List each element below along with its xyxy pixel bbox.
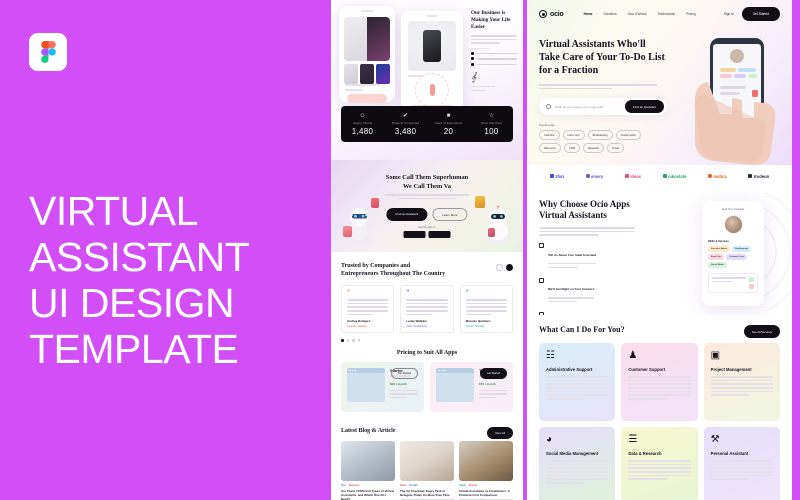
nav-link-home[interactable]: Home <box>584 12 593 16</box>
mockup-screen-a: Our Business is Making Your Life Easier … <box>331 0 523 500</box>
client-logo: Kodeun <box>748 174 769 179</box>
testimonial-card: “ Marcelo Quintero Owner, Tidewell <box>460 285 513 333</box>
superhuman-heading: Some Call Them Superhuman We Call Them V… <box>372 174 482 191</box>
signature-icon: 𝄞 <box>471 72 517 83</box>
hero-lead <box>539 84 657 89</box>
skill-chip[interactable]: Social Media <box>708 262 727 268</box>
mockup-screen-b: ocio Home Solutions How It Works Testimo… <box>527 0 792 500</box>
why-lead <box>539 227 635 236</box>
blog-tag: Tips <box>341 484 346 487</box>
app-phone-mockup: Find Your Assistant Skills & Services Ex… <box>702 201 764 306</box>
service-title: Data & Research <box>628 451 690 456</box>
business-paragraph <box>471 35 517 44</box>
service-title: Project Management <box>711 367 773 372</box>
service-card[interactable]: ⚒ Personal Assistant <box>704 427 780 500</box>
client-logo: nikostate <box>663 174 687 179</box>
checkbox-icon <box>539 243 544 248</box>
pricing-card-team: Team $79 / month Get Started <box>430 362 513 412</box>
stat-value: 20 <box>427 127 470 136</box>
navbar: ocio Home Solutions How It Works Testimo… <box>527 0 792 28</box>
phone-notch <box>361 10 373 12</box>
checkbox-icon <box>539 278 544 283</box>
service-title: Administrative Support <box>546 367 608 372</box>
award-icon: ☆ <box>470 112 513 120</box>
section-pricing: Pricing to Suit All Apps Starter $29 / m… <box>331 344 523 420</box>
service-title: Personal Assistant <box>711 451 773 456</box>
blog-tag: Guide <box>459 484 466 487</box>
blog-title: Are There 4 Different Types of Virtual A… <box>341 489 395 500</box>
skill-chip[interactable]: Customer Care <box>726 254 747 260</box>
section-testimonials: Trusted by Companies and Entrepreneurs T… <box>331 252 523 344</box>
blog-thumbnail <box>341 441 395 481</box>
business-copy: Our Business is Making Your Life Easier … <box>471 10 517 93</box>
avatar <box>724 215 743 234</box>
client-logo: zfori <box>550 174 564 179</box>
section-superhuman: Some Call Them Superhuman We Call Them V… <box>331 160 523 252</box>
stat-item: ☆ Team Members 100 <box>470 112 513 136</box>
plan-preview-image <box>436 368 474 402</box>
avatar-thumb <box>488 228 495 237</box>
robot-dog-illustration <box>343 204 377 246</box>
check-circle-icon: ✔ <box>384 112 427 120</box>
store-caption: Get the app on <box>404 226 451 229</box>
nav-link-testimonials[interactable]: Testimonials <box>657 12 675 16</box>
person-icon: ⚒ <box>711 434 773 445</box>
client-logo-label: Kodeun <box>754 174 770 179</box>
services-grid: ☷ Administrative Support ♟ Customer Supp… <box>539 343 780 500</box>
client-logo-label: matica <box>713 174 726 179</box>
section-blog: Latest Blog & Article View All TipsBusin… <box>331 420 523 500</box>
document-icon: ☷ <box>546 350 608 361</box>
why-feature: Tell Us About Your Ideal Assistant <box>539 243 643 270</box>
why-heading: Why Choose Ocio Apps Virtual Assistants <box>539 199 639 221</box>
blog-thumbnail <box>459 441 513 481</box>
why-feature: We'll Get Right on Your Answers <box>539 277 643 304</box>
phone-1-cta[interactable] <box>347 94 387 103</box>
stat-value: 3,480 <box>384 127 427 136</box>
briefcase-icon: ▣ <box>711 350 773 361</box>
chevron-right-icon[interactable] <box>506 264 513 271</box>
brand-name: ocio <box>550 11 564 18</box>
headset-icon: ♟ <box>628 350 690 361</box>
carousel-dot[interactable] <box>352 339 355 342</box>
client-logo: Ideas <box>625 174 641 179</box>
hero-content: Virtual Assistants Who'll Take Care of Y… <box>527 28 679 153</box>
quote-icon: “ <box>347 291 388 296</box>
see-all-services-button[interactable]: See All Services <box>744 325 780 338</box>
stat-label: Projects Completed <box>384 121 427 125</box>
nav-link-solutions[interactable]: Solutions <box>603 12 616 16</box>
plan-price: $79 / month <box>479 382 507 386</box>
pricing-heading: Pricing to Suit All Apps <box>341 350 513 356</box>
testimonial-role: CEO, Northbound <box>406 325 427 328</box>
carousel-dot-active[interactable] <box>341 339 344 342</box>
pricing-card-starter: Starter $29 / month Get Started <box>341 362 424 412</box>
tag-chip[interactable]: Research <box>583 143 604 153</box>
superhuman-heading-line1: Some Call Them Superhuman <box>386 174 468 181</box>
stat-label: Happy Clients <box>341 121 384 125</box>
blog-thumbnail <box>400 441 454 481</box>
page-title: VIRTUAL ASSISTANT UI DESIGN TEMPLATE <box>29 188 309 372</box>
testimonial-card: “ Andrea Rodgers Founder, Brightly <box>341 285 394 333</box>
skill-chip[interactable]: Email Ops <box>708 254 724 260</box>
tag-chip[interactable]: Bookkeeping <box>588 130 613 140</box>
phone-1-sub-line <box>345 89 363 91</box>
testimonial-author: Leslie Watkins <box>406 319 427 323</box>
poster-panel: VIRTUAL ASSISTANT UI DESIGN TEMPLATE <box>0 0 331 500</box>
blog-card[interactable]: TipsBusiness Are There 4 Different Types… <box>341 441 395 500</box>
nav-link-how-it-works[interactable]: How It Works <box>628 12 647 16</box>
stat-label: Team Members <box>470 121 513 125</box>
tag-chip[interactable]: Data entry <box>539 143 561 153</box>
client-logo-strip: zfori emery Ideas nikostate matica Kodeu… <box>527 165 792 187</box>
superhuman-subtext <box>385 194 469 199</box>
store-badges: Get the app on <box>404 226 451 238</box>
stat-item: ✔ Projects Completed 3,480 <box>384 112 427 136</box>
phone-notch <box>426 15 438 17</box>
tag-chip[interactable]: CRM <box>564 143 580 153</box>
popular-tags-caption: Popular tags: <box>539 123 667 127</box>
title-line-4: TEMPLATE <box>29 326 309 372</box>
title-line-1: VIRTUAL <box>29 188 309 234</box>
business-bullet <box>471 63 517 66</box>
learn-more-button[interactable]: Learn More <box>432 208 467 221</box>
blog-tag: Growth <box>409 484 417 487</box>
tag-chip[interactable]: Social media <box>616 130 641 140</box>
briefcase-icon: ■ <box>427 112 470 120</box>
hero-heading: Virtual Assistants Who'll Take Care of Y… <box>539 38 667 77</box>
service-card[interactable]: ◕ Social Media Management <box>539 427 615 500</box>
business-bullet <box>471 52 517 55</box>
get-started-button[interactable]: Get Started <box>742 7 780 21</box>
blog-card[interactable]: NewsGrowth The VA Checklist: Every Task … <box>400 441 454 500</box>
carousel-dot[interactable] <box>347 339 350 342</box>
superhuman-actions: Find an Assistant Learn More <box>386 208 467 221</box>
phone-mockup-1 <box>339 6 395 102</box>
figma-icon <box>29 33 67 71</box>
search-icon <box>546 104 551 109</box>
title-line-3: UI DESIGN <box>29 280 309 326</box>
skill-chip[interactable]: Bookkeeping <box>732 246 751 252</box>
stats-bar: ☺ Happy Clients 1,480 ✔ Projects Complet… <box>341 106 513 142</box>
search-input[interactable]: What do you need a VA to help with? <box>555 105 625 109</box>
find-assistant-button[interactable]: Find an Assistant <box>625 100 664 113</box>
testimonial-role: Owner, Tidewell <box>466 325 484 328</box>
phone-message-box <box>708 273 758 293</box>
blog-title: The VA Checklist: Every Task to Delegate… <box>400 489 454 497</box>
section-hero: ocio Home Solutions How It Works Testimo… <box>527 0 792 165</box>
why-feature-title: We'll Get Right on Your Answers <box>548 287 594 291</box>
send-icon[interactable] <box>749 277 754 282</box>
testimonial-author: Andrea Rodgers <box>347 319 370 323</box>
phone-message-text <box>712 277 746 289</box>
tag-chip[interactable]: Travel <box>607 143 624 153</box>
skill-chip[interactable]: Executive Admin <box>708 246 730 252</box>
plan-preview-image <box>347 368 385 402</box>
testimonial-card: “ Leslie Watkins CEO, Northbound <box>400 285 453 333</box>
signin-link[interactable]: Sign in <box>724 12 734 16</box>
carousel-dot[interactable] <box>358 339 361 342</box>
client-logo: emery <box>586 174 604 179</box>
megaphone-icon: ◕ <box>546 434 608 445</box>
testimonial-author: Marcelo Quintero <box>466 319 491 323</box>
tag-chip[interactable]: Inbox zero <box>563 130 585 140</box>
stat-value: 100 <box>470 127 513 136</box>
stat-value: 1,480 <box>341 127 384 136</box>
ocio-logo-icon <box>539 10 547 18</box>
stat-label: Years of Experience <box>427 121 470 125</box>
section-services: What Can I Do For You? See All Services … <box>527 315 792 500</box>
client-logo-label: emery <box>591 174 603 179</box>
phone-section-label: Skills & Services <box>708 240 758 243</box>
testimonial-card-list: “ Andrea Rodgers Founder, Brightly “ Les… <box>341 285 513 333</box>
nav-link-pricing[interactable]: Pricing <box>686 12 696 16</box>
carousel-dots[interactable] <box>341 339 513 342</box>
tag-chip[interactable]: Calendar <box>539 130 560 140</box>
business-heading: Our Business is Making Your Life Easier <box>471 10 517 31</box>
phone-1-thumbs <box>344 64 390 84</box>
phone-1-gallery <box>344 17 390 61</box>
blog-tag: Business <box>349 484 360 487</box>
google-play-badge[interactable] <box>429 231 451 238</box>
stat-item: ☺ Happy Clients 1,480 <box>341 112 384 136</box>
business-bullet <box>471 57 517 60</box>
blog-card[interactable]: GuideRemote Virtual Assistants vs Freela… <box>459 441 513 500</box>
figma-glyph <box>41 41 56 63</box>
service-card[interactable]: ▣ Project Management <box>704 343 780 421</box>
plan-cta-button[interactable]: Get Started <box>480 368 507 379</box>
skill-chip-list: Executive Admin Bookkeeping Email Ops Cu… <box>708 246 758 268</box>
avatar-thumb <box>475 196 485 208</box>
service-card[interactable]: ♟ Customer Support <box>621 343 697 421</box>
testimonial-role: Founder, Brightly <box>347 325 367 328</box>
why-feature-title: Tell Us About Your Ideal Assistant <box>548 253 596 257</box>
client-logo-label: Ideas <box>630 174 641 179</box>
avatar-thumb <box>343 226 352 237</box>
search-bar[interactable]: What do you need a VA to help with? Find… <box>539 98 667 115</box>
section-business-hero: Our Business is Making Your Life Easier … <box>331 0 523 160</box>
app-store-badge[interactable] <box>404 231 426 238</box>
plan-cta-button[interactable]: Get Started <box>391 368 418 379</box>
nav-links: Home Solutions How It Works Testimonials… <box>584 12 696 16</box>
superhuman-heading-line2: We Call Them Va <box>403 183 451 190</box>
brand-logo[interactable]: ocio <box>539 10 564 18</box>
chevron-left-icon[interactable] <box>496 264 503 271</box>
blog-view-all-button[interactable]: View All <box>487 427 513 439</box>
find-assistant-button[interactable]: Find an Assistant <box>386 208 427 221</box>
blog-tag: Remote <box>469 484 478 487</box>
phone-mockup-2 <box>401 11 463 115</box>
service-card[interactable]: ☷ Administrative Support <box>539 343 615 421</box>
robot-assistant-illustration <box>483 206 513 244</box>
mic-icon[interactable] <box>749 284 754 289</box>
blog-title: Virtual Assistants vs Freelancers: A Pra… <box>459 489 513 497</box>
title-line-2: ASSISTANT <box>29 234 309 280</box>
popular-tags: Popular tags: Calendar Inbox zero Bookke… <box>539 123 667 153</box>
client-logo: matica <box>708 174 727 179</box>
blog-tag: News <box>400 484 406 487</box>
section-why-choose: Why Choose Ocio Apps Virtual Assistants … <box>527 187 792 315</box>
client-logo-label: nikostate <box>668 174 686 179</box>
quote-icon: “ <box>466 291 507 296</box>
quote-icon: “ <box>406 291 447 296</box>
plan-price: $29 / month <box>390 382 418 386</box>
testimonials-heading: Trusted by Companies and Entrepreneurs T… <box>341 262 446 278</box>
user-icon: ☺ <box>341 112 384 120</box>
chart-icon: ☰ <box>628 434 690 445</box>
service-title: Customer Support <box>628 367 690 372</box>
phone-2-product-image <box>408 21 456 71</box>
hand-holding-phone-image <box>680 30 792 165</box>
signature-name <box>471 86 517 91</box>
service-card[interactable]: ☰ Data & Research <box>621 427 697 500</box>
phone-screen-title: Find Your Assistant <box>708 208 758 211</box>
client-logo-label: zfori <box>555 174 564 179</box>
avatar-thumb <box>371 198 379 208</box>
service-title: Social Media Management <box>546 451 608 456</box>
carousel-nav[interactable] <box>496 264 513 271</box>
stat-item: ■ Years of Experience 20 <box>427 112 470 136</box>
phone-2-loader <box>415 73 449 107</box>
phone-1-title-line <box>345 84 379 86</box>
business-bullets-label <box>471 48 489 50</box>
